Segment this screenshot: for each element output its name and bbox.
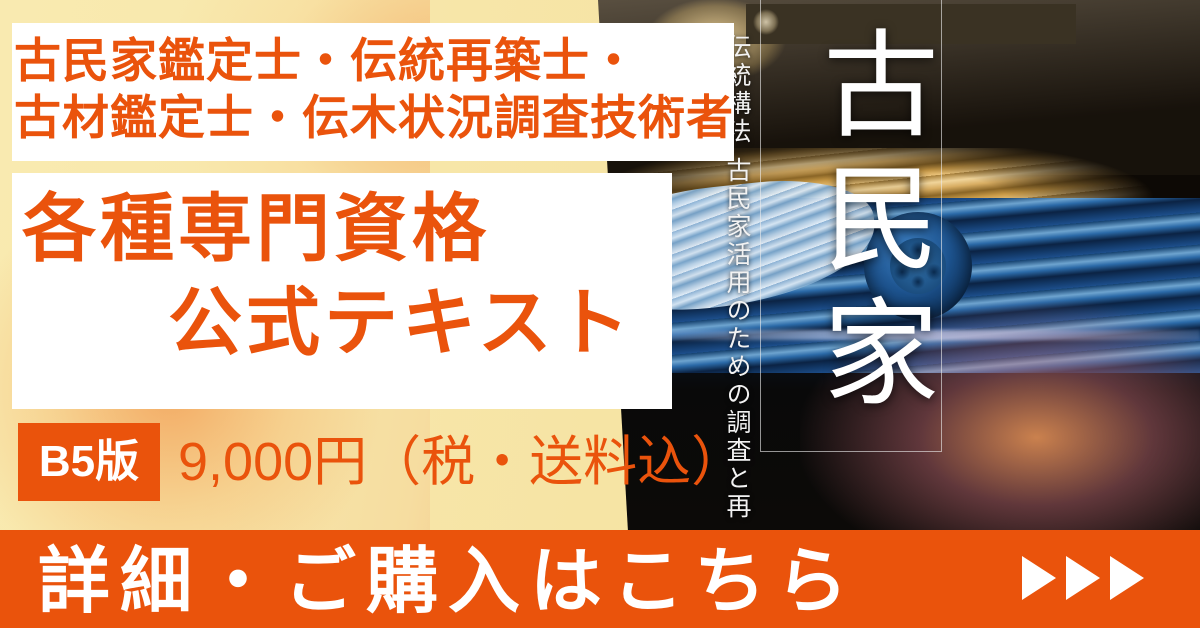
headline-line-1: 古民家鑑定士・伝統再築士・ (14, 32, 734, 89)
cover-title: 古民家 (760, 10, 940, 440)
triangle-right-icon (1110, 556, 1144, 600)
subhead-line-1: 各種専門資格 (22, 186, 490, 272)
price-text: 9,000円（税・送料込） (178, 428, 745, 496)
cta-arrow-group (1022, 556, 1144, 600)
headline: 古民家鑑定士・伝統再築士・ 古材鑑定士・伝木状況調査技術者 (14, 32, 734, 146)
triangle-right-icon (1022, 556, 1056, 600)
headline-line-2: 古材鑑定士・伝木状況調査技術者 (14, 89, 734, 146)
triangle-right-icon (1066, 556, 1100, 600)
promo-banner: 古民家 伝統構法 古民家活用のための調査と再生の 古民家鑑定士・伝統再築士・ 古… (0, 0, 1200, 628)
cta-label[interactable]: 詳細・ご購入はこちら (38, 540, 858, 624)
format-badge-label: B5版 (39, 440, 139, 484)
subhead-line-2: 公式テキスト (168, 280, 634, 366)
format-badge: B5版 (18, 423, 160, 501)
